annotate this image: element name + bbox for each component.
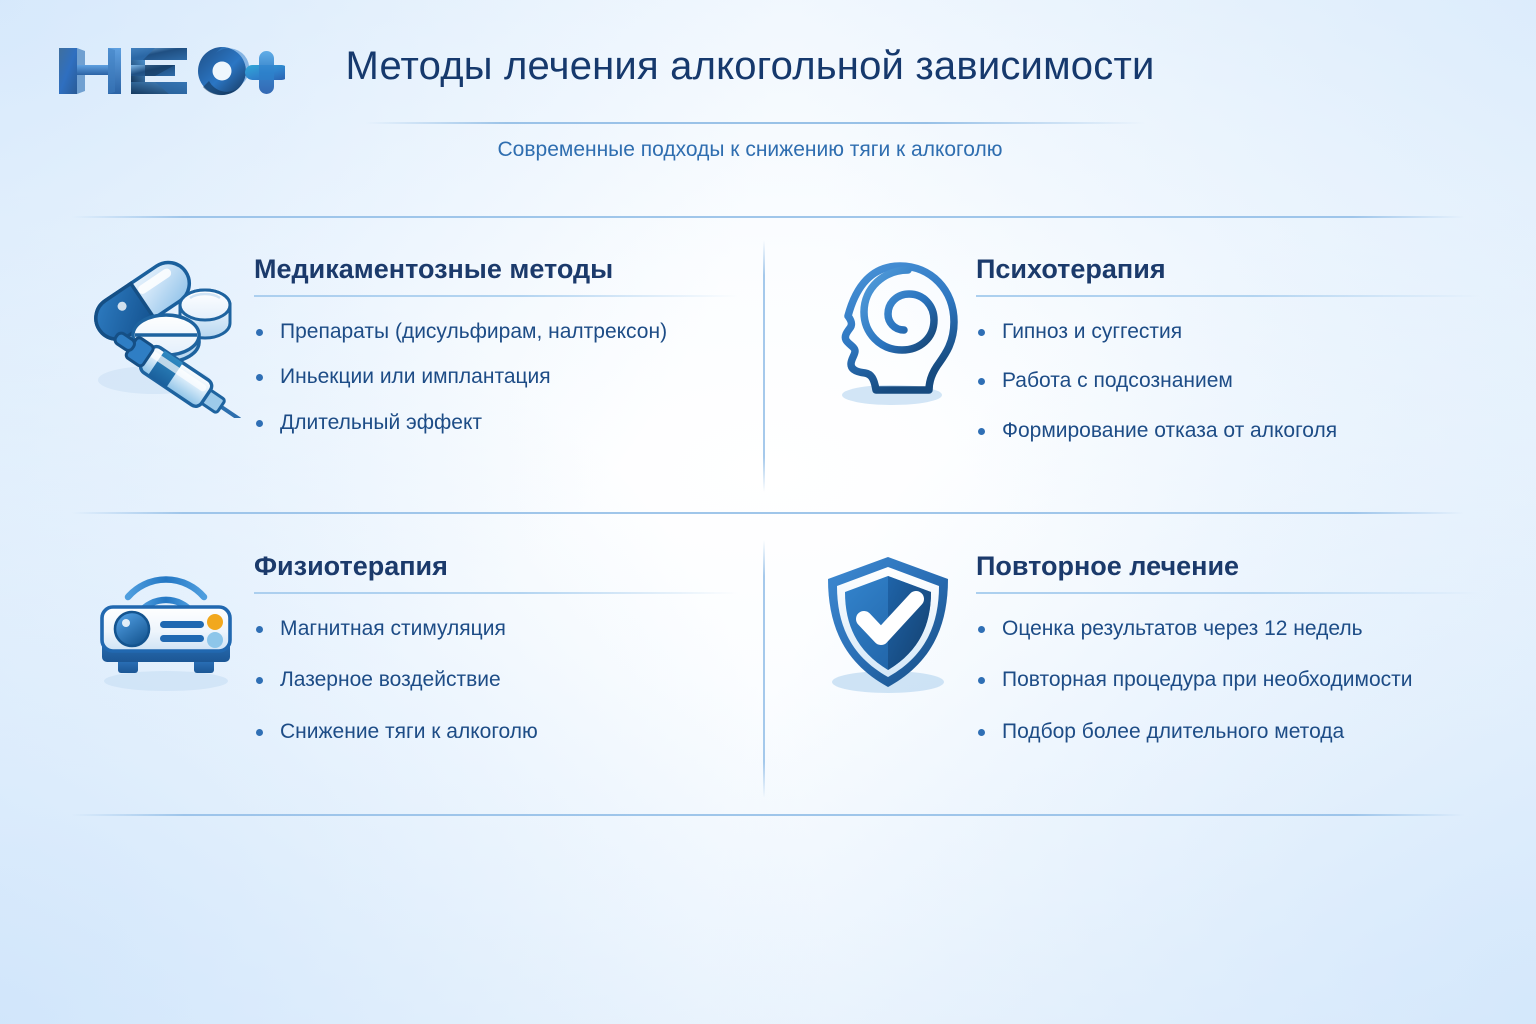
card-body: Медикаментозные методы Препараты (дисуль… <box>254 248 738 455</box>
list-item-label: Подбор более длительного метода <box>1002 720 1344 743</box>
bullet-dot-icon <box>978 626 985 633</box>
list-item: Снижение тяги к алкоголю <box>254 719 738 745</box>
list-item: Подбор более длительного метода <box>976 719 1480 745</box>
list-item-label: Лазерное воздействие <box>280 668 501 691</box>
list-item: Препараты (дисульфирам, налтрексон) <box>254 319 738 345</box>
list-item-label: Магнитная стимуляция <box>280 617 506 640</box>
bullet-dot-icon <box>256 729 263 736</box>
list-item-label: Работа с подсознанием <box>1002 369 1233 392</box>
bullet-dot-icon <box>978 329 985 336</box>
list-item: Формирование отказа от алкоголя <box>976 418 1480 444</box>
list-item: Оценка результатов через 12 недель <box>976 616 1480 642</box>
card-body: Физиотерапия Магнитная стимуляция Лазерн… <box>254 545 738 770</box>
heading-underline <box>254 592 738 594</box>
logo-letter-h <box>59 48 121 94</box>
list-item: Гипноз и суггестия <box>976 319 1480 345</box>
bullet-list: Гипноз и суггестия Работа с подсознанием… <box>976 319 1480 444</box>
bullet-dot-icon <box>978 729 985 736</box>
card-psychotherapy: Психотерапия Гипноз и суггестия Работа с… <box>800 248 1480 467</box>
bullet-dot-icon <box>256 329 263 336</box>
bullet-dot-icon <box>978 378 985 385</box>
bullet-list: Оценка результатов через 12 недель Повто… <box>976 616 1480 745</box>
card-heading: Физиотерапия <box>254 551 738 582</box>
card-physiotherapy: Физиотерапия Магнитная стимуляция Лазерн… <box>78 545 738 770</box>
heading-underline <box>976 592 1480 594</box>
list-item-label: Оценка результатов через 12 недель <box>1002 617 1363 640</box>
card-medication: Медикаментозные методы Препараты (дисуль… <box>78 248 738 455</box>
heading-underline <box>976 295 1480 297</box>
list-item: Магнитная стимуляция <box>254 616 738 642</box>
bullet-dot-icon <box>256 374 263 381</box>
logo-plus-icon <box>245 51 285 94</box>
list-item: Иньекции или имплантация <box>254 364 738 390</box>
head-hypnosis-spiral-icon <box>800 248 976 418</box>
bullet-dot-icon <box>978 428 985 435</box>
physio-device-waves-icon <box>78 545 254 715</box>
list-item-label: Гипноз и суггестия <box>1002 320 1182 343</box>
list-item-label: Повторная процедура при необходимости <box>1002 668 1412 691</box>
bullet-dot-icon <box>256 626 263 633</box>
card-body: Повторное лечение Оценка результатов чер… <box>976 545 1480 770</box>
bullet-dot-icon <box>256 677 263 684</box>
list-item: Работа с подсознанием <box>976 368 1480 394</box>
page-title: Методы лечения алкогольной зависимости <box>300 44 1200 89</box>
divider-bottom <box>72 814 1464 816</box>
divider-vertical-bottom <box>763 540 765 798</box>
list-item: Длительный эффект <box>254 410 738 436</box>
bullet-dot-icon <box>256 420 263 427</box>
logo-letter-e <box>131 48 187 94</box>
card-heading: Медикаментозные методы <box>254 254 738 285</box>
divider-vertical-top <box>763 240 765 492</box>
divider-top <box>72 216 1464 218</box>
list-item: Повторная процедура при необходимости <box>976 667 1480 693</box>
logo-letter-o <box>198 47 249 95</box>
page-subtitle: Современные подходы к снижению тяги к ал… <box>300 138 1200 162</box>
card-heading: Повторное лечение <box>976 551 1480 582</box>
list-item-label: Препараты (дисульфирам, налтрексон) <box>280 320 667 343</box>
heading-underline <box>254 295 738 297</box>
header: Методы лечения алкогольной зависимости С… <box>0 0 1536 200</box>
list-item-label: Снижение тяги к алкоголю <box>280 720 538 743</box>
card-body: Психотерапия Гипноз и суггестия Работа с… <box>976 248 1480 467</box>
list-item-label: Длительный эффект <box>280 411 482 434</box>
bullet-dot-icon <box>978 677 985 684</box>
shield-check-icon <box>800 545 976 715</box>
pills-capsule-syringe-icon <box>78 248 254 418</box>
bullet-list: Препараты (дисульфирам, налтрексон) Инье… <box>254 319 738 436</box>
list-item-label: Формирование отказа от алкоголя <box>1002 419 1337 442</box>
bullet-list: Магнитная стимуляция Лазерное воздействи… <box>254 616 738 745</box>
list-item-label: Иньекции или имплантация <box>280 365 551 388</box>
card-repeat-treatment: Повторное лечение Оценка результатов чер… <box>800 545 1480 770</box>
list-item: Лазерное воздействие <box>254 667 738 693</box>
divider-middle <box>72 512 1464 514</box>
card-heading: Психотерапия <box>976 254 1480 285</box>
brand-logo <box>55 38 285 104</box>
infographic-canvas: Методы лечения алкогольной зависимости С… <box>0 0 1536 1024</box>
title-divider <box>365 122 1145 124</box>
